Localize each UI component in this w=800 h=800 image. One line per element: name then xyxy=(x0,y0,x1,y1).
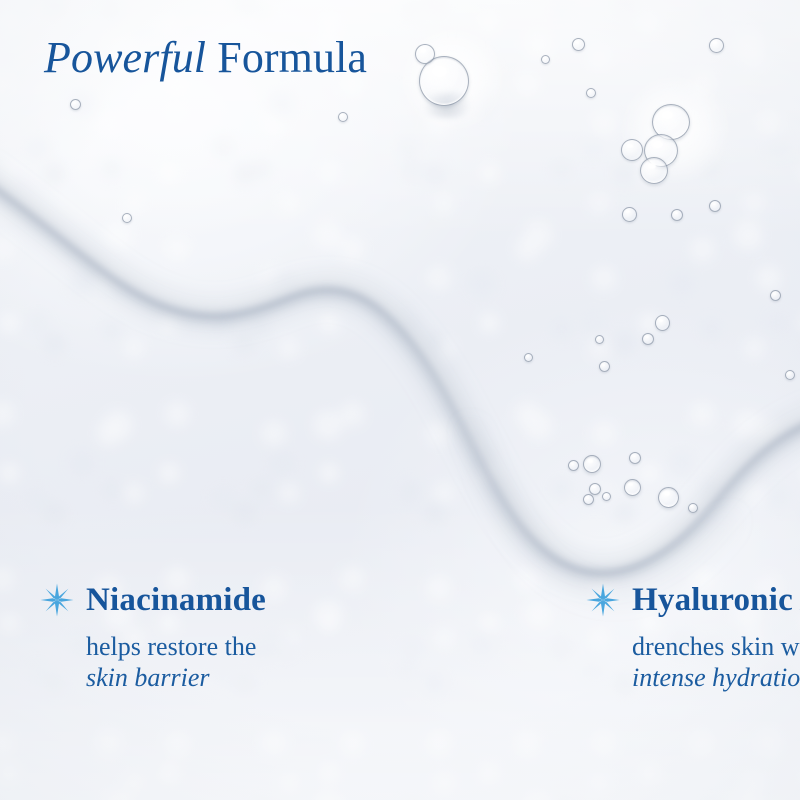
benefit-title: Hyaluronic Acid xyxy=(632,584,800,617)
bubble-small xyxy=(602,492,611,501)
bubble-small xyxy=(622,207,637,222)
bubble-small xyxy=(655,315,670,331)
bubble-small xyxy=(709,38,724,53)
bubble-small xyxy=(785,370,795,380)
bubble-medium xyxy=(640,157,668,184)
bubble-small xyxy=(415,44,435,64)
benefit-description-line-1: drenches skin with xyxy=(632,631,800,662)
bubble-small xyxy=(572,38,585,51)
bubble-small xyxy=(595,335,604,344)
bubble-small xyxy=(338,112,348,122)
bubble-small xyxy=(624,479,641,496)
benefit-description: drenches skin with intense hydration xyxy=(586,631,800,693)
bubble-small xyxy=(589,483,601,495)
bubble-small xyxy=(770,290,781,301)
sparkle-icon xyxy=(40,583,74,617)
bubble-small xyxy=(621,139,643,161)
page-title: Powerful Formula xyxy=(44,36,367,80)
bubble-small xyxy=(583,494,594,505)
bubble-small xyxy=(642,333,654,345)
bubble-small xyxy=(709,200,721,212)
page-title-italic: Powerful xyxy=(44,33,206,82)
page-title-roman: Formula xyxy=(217,33,367,82)
product-feature-graphic: Powerful Formula Niac xyxy=(0,0,800,800)
benefit-description-line-2: intense hydration xyxy=(632,662,800,693)
sparkle-icon xyxy=(586,583,620,617)
bubble-small xyxy=(629,452,641,464)
bubble-small xyxy=(524,353,533,362)
bubble-medium xyxy=(658,487,679,508)
benefit-item-hyaluronic-acid: Hyaluronic Acid drenches skin with inten… xyxy=(218,578,800,693)
bubble-small xyxy=(541,55,550,64)
bubble-small xyxy=(586,88,596,98)
bubble-small xyxy=(583,455,601,473)
bubble-small xyxy=(70,99,81,110)
bubble-small xyxy=(599,361,610,372)
benefits-row: Niacinamide helps restore the skin barri… xyxy=(0,578,800,693)
bubble-small xyxy=(688,503,698,513)
benefit-heading: Hyaluronic Acid xyxy=(586,578,800,622)
bubble-small xyxy=(122,213,132,223)
bubble-small xyxy=(568,460,579,471)
bubble-small xyxy=(671,209,683,221)
